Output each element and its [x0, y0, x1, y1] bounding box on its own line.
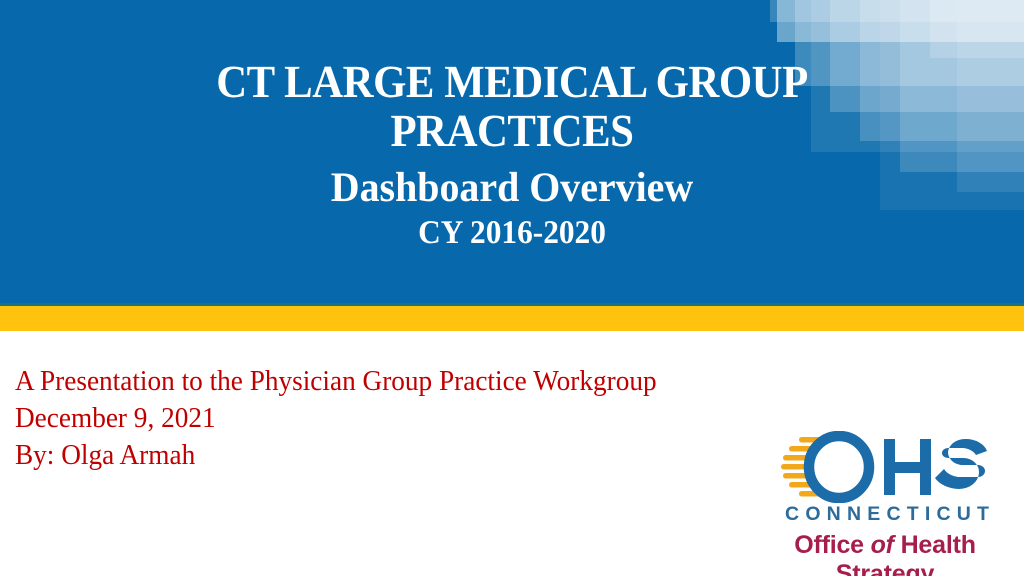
byline-line-2: December 9, 2021	[15, 400, 657, 437]
logo-state-name: CONNECTICUT	[760, 503, 1014, 526]
title-banner: CT LARGE MEDICAL GROUP PRACTICES Dashboa…	[0, 0, 1024, 306]
byline-line-1: A Presentation to the Physician Group Pr…	[15, 363, 657, 400]
logo-office-word-1: Office	[794, 531, 864, 559]
logo-office-word-of: of	[871, 531, 894, 559]
decorative-square-10	[880, 0, 1024, 210]
slide-title-line-1: CT LARGE MEDICAL GROUP	[175, 58, 848, 107]
decorative-square-9	[957, 0, 1024, 192]
slide-title-block: CT LARGE MEDICAL GROUP PRACTICES Dashboa…	[150, 58, 874, 251]
slide-subtitle: Dashboard Overview	[168, 166, 856, 211]
decorative-square-6	[930, 0, 1024, 58]
title-slide: CT LARGE MEDICAL GROUP PRACTICES Dashboa…	[0, 0, 1024, 576]
ohs-globe-rays-icon	[756, 431, 1014, 503]
decorative-square-7	[770, 0, 1024, 22]
logo-office-name: Office of Health Strategy	[756, 531, 1014, 576]
gold-divider-bar	[0, 306, 1024, 331]
byline-line-3: By: Olga Armah	[15, 437, 657, 474]
slide-footer-area: A Presentation to the Physician Group Pr…	[0, 331, 1024, 576]
slide-title-years: CY 2016-2020	[168, 216, 856, 251]
decorative-square-4	[860, 0, 1024, 141]
presentation-byline: A Presentation to the Physician Group Pr…	[15, 363, 698, 474]
decorative-square-1	[777, 0, 1024, 42]
ohs-connecticut-logo: CONNECTICUT Office of Health Strategy	[756, 431, 1014, 566]
slide-title-line-2: PRACTICES	[175, 107, 848, 156]
decorative-square-5	[900, 0, 1024, 172]
